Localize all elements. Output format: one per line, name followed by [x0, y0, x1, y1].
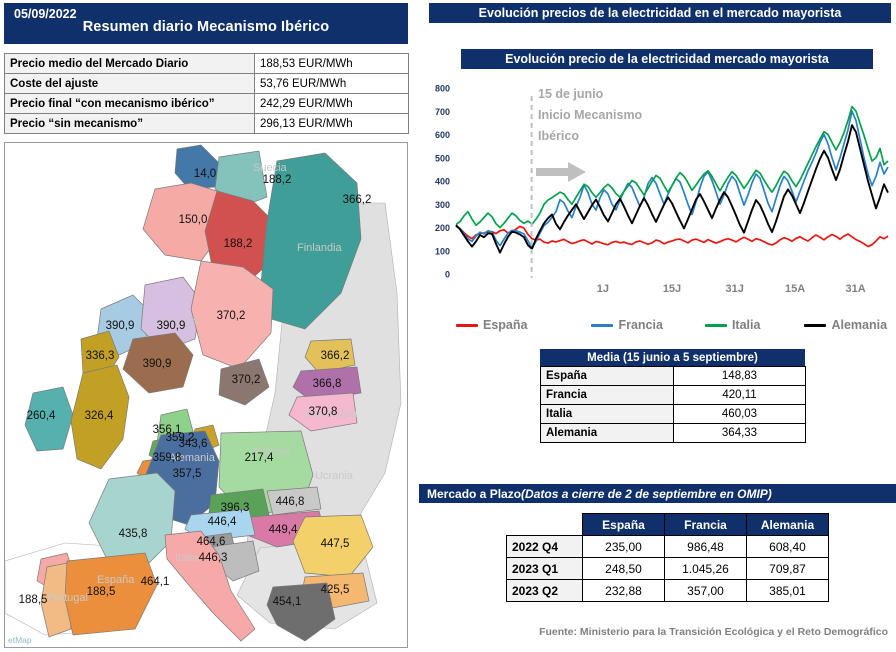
table-row: Francia 420,11: [541, 386, 806, 405]
y-axis-tick: 500: [435, 153, 450, 163]
map-value: 336,3: [86, 350, 115, 362]
summary-header: 05/09/2022 Resumen diario Mecanismo Ibér…: [4, 3, 408, 44]
map-value: 425,5: [321, 584, 350, 596]
table-row: 2023 Q1 248,50 1.045,26 709,87: [507, 558, 829, 580]
legend-label: España: [483, 318, 527, 332]
y-axis-tick: 700: [435, 107, 450, 117]
plazo-cell: 385,01: [747, 580, 829, 602]
media-table-header: Media (15 junio a 5 septiembre): [540, 349, 805, 366]
plazo-period: 2023 Q2: [507, 580, 583, 602]
map-svg: Suecia Finlandia Noruega Bielorrusia Pol…: [5, 143, 407, 647]
summary-label: Precio medio del Mercado Diario: [5, 54, 255, 74]
plazo-cell: 608,40: [747, 536, 829, 558]
y-axis-tick: 800: [435, 84, 450, 94]
table-row: Alemania 364,33: [541, 424, 806, 443]
y-axis-labels: 0100200300400500600700800: [435, 84, 450, 280]
legend-label: Alemania: [831, 318, 887, 332]
map-value: 366,8: [313, 378, 342, 390]
legend-swatch-francia: [591, 324, 613, 327]
table-row: Precio “sin mecanismo” 296,13 EUR/MWh: [5, 114, 409, 134]
summary-value: 53,76 EUR/MWh: [255, 74, 409, 94]
map-value: 359,2: [166, 432, 195, 444]
map-value: 435,8: [119, 528, 148, 540]
map-country-name: España: [97, 574, 135, 586]
media-country: Francia: [541, 386, 674, 405]
map-value: 464,6: [197, 536, 226, 548]
table-row: Coste del ajuste 53,76 EUR/MWh: [5, 74, 409, 94]
map-value: 446,4: [208, 516, 237, 528]
map-value: 446,8: [276, 496, 305, 508]
table-row: 2023 Q2 232,88 357,00 385,01: [507, 580, 829, 602]
chart-series-group: [456, 107, 888, 253]
map-value: 447,5: [321, 538, 350, 550]
map-country-name: Portugal: [47, 592, 88, 604]
map-value: 217,4: [245, 452, 274, 464]
table-row: Precio final “con mecanismo ibérico” 242…: [5, 94, 409, 114]
map-value: 357,5: [173, 468, 202, 480]
plazo-cell: 357,00: [665, 580, 747, 602]
price-evolution-chart: 0100200300400500600700800 1J15J31J15A31A…: [418, 78, 896, 310]
legend-swatch-italia: [705, 324, 727, 327]
map-value: 370,8: [309, 406, 338, 418]
map-country-name: Finlandia: [297, 242, 343, 254]
media-table: España 148,83 Francia 420,11 Italia 460,…: [540, 366, 806, 443]
map-country-name: Suecia: [253, 162, 288, 174]
map-value: 150,0: [179, 214, 208, 226]
plazo-cell: 248,50: [583, 558, 665, 580]
media-value: 460,03: [674, 405, 806, 424]
table-header-row: España Francia Alemania: [507, 514, 829, 536]
map-attribution: etMap: [8, 635, 32, 645]
y-axis-tick: 100: [435, 246, 450, 256]
summary-label: Precio “sin mecanismo”: [5, 114, 255, 134]
table-row: Precio medio del Mercado Diario 188,53 E…: [5, 54, 409, 74]
map-value: 390,9: [157, 320, 186, 332]
summary-label: Precio final “con mecanismo ibérico”: [5, 94, 255, 114]
map-value: 390,9: [106, 320, 135, 332]
page-title: Resumen diario Mecanismo Ibérico: [4, 19, 408, 35]
x-axis-tick: 31J: [725, 283, 743, 295]
map-value: 188,2: [224, 238, 253, 250]
table-row: España 148,83: [541, 367, 806, 386]
x-axis-tick: 15A: [785, 283, 805, 295]
map-value: 326,4: [85, 410, 114, 422]
legend-item-francia: Francia: [591, 318, 662, 332]
annotation-line-1: 15 de junio: [538, 87, 604, 101]
map-value: 188,5: [87, 586, 116, 598]
x-axis-tick: 31A: [846, 283, 866, 295]
map-value: 446,3: [199, 552, 228, 564]
legend-swatch-espana: [456, 324, 478, 327]
y-axis-tick: 200: [435, 223, 450, 233]
y-axis-tick: 0: [445, 270, 450, 280]
legend-item-italia: Italia: [705, 318, 761, 332]
table-corner-cell: [507, 514, 583, 536]
chart-banner: Evolución precio de la electricidad merc…: [461, 49, 873, 69]
map-value: 454,1: [273, 596, 302, 608]
map-value: 366,2: [343, 194, 372, 206]
map-value: 188,5: [19, 594, 48, 606]
annotation-line-2: Inicio Mecanismo: [538, 108, 643, 122]
map-value: 370,2: [232, 374, 261, 386]
plazo-period: 2023 Q1: [507, 558, 583, 580]
map-country-name: Ucrania: [315, 470, 354, 482]
x-axis-tick: 1J: [597, 283, 609, 295]
y-axis-tick: 400: [435, 177, 450, 187]
map-value: 449,4: [269, 524, 298, 536]
x-axis-labels: 1J15J31J15A31A: [597, 283, 866, 295]
media-country: Alemania: [541, 424, 674, 443]
legend-label: Francia: [618, 318, 662, 332]
plazo-col-alemania: Alemania: [747, 514, 829, 536]
plazo-table: España Francia Alemania 2022 Q4 235,00 9…: [506, 513, 829, 602]
summary-value: 296,13 EUR/MWh: [255, 114, 409, 134]
arrow-icon: [536, 162, 586, 182]
map-value: 260,4: [27, 410, 56, 422]
plazo-col-francia: Francia: [665, 514, 747, 536]
series-line-españa: [456, 226, 888, 246]
chart-svg: 0100200300400500600700800 1J15J31J15A31A…: [418, 78, 896, 310]
map-country-name: Italia: [175, 552, 199, 564]
chart-legend: España Francia Italia Alemania: [418, 312, 896, 338]
series-line-alemania: [456, 125, 888, 252]
map-value: 14,0: [194, 168, 216, 180]
media-value: 364,33: [674, 424, 806, 443]
plazo-cell: 232,88: [583, 580, 665, 602]
plazo-cell: 986,48: [665, 536, 747, 558]
table-row: 2022 Q4 235,00 986,48 608,40: [507, 536, 829, 558]
media-country: Italia: [541, 405, 674, 424]
plazo-cell: 709,87: [747, 558, 829, 580]
series-line-italia: [456, 107, 888, 228]
map-value: 359,8: [153, 452, 182, 464]
annotation-line-3: Ibérico: [538, 129, 579, 143]
map-value: 464,1: [141, 576, 170, 588]
source-note: Fuente: Ministerio para la Transición Ec…: [418, 626, 896, 638]
map-value: 188,2: [263, 174, 292, 186]
plazo-title-bold: Mercado a Plazo: [427, 487, 521, 501]
x-axis-tick: 15J: [663, 283, 681, 295]
main-banner: Evolución precios de la electricidad en …: [429, 3, 891, 23]
legend-item-alemania: Alemania: [804, 318, 887, 332]
left-panel: 05/09/2022 Resumen diario Mecanismo Ibér…: [0, 0, 416, 652]
map-value: 390,9: [143, 358, 172, 370]
media-value: 148,83: [674, 367, 806, 386]
table-row: Italia 460,03: [541, 405, 806, 424]
legend-item-espana: España: [456, 318, 527, 332]
media-country: España: [541, 367, 674, 386]
plazo-cell: 1.045,26: [665, 558, 747, 580]
plazo-period: 2022 Q4: [507, 536, 583, 558]
map-value: 396,3: [221, 502, 250, 514]
plazo-cell: 235,00: [583, 536, 665, 558]
summary-value: 188,53 EUR/MWh: [255, 54, 409, 74]
plazo-table-header: Mercado a Plazo (Datos a cierre de 2 de …: [419, 484, 896, 503]
legend-swatch-alemania: [804, 324, 826, 327]
plazo-title-italic: (Datos a cierre de 2 de septiembre en OM…: [521, 487, 772, 501]
europe-price-map: Suecia Finlandia Noruega Bielorrusia Pol…: [4, 142, 408, 648]
media-value: 420,11: [674, 386, 806, 405]
legend-label: Italia: [732, 318, 761, 332]
right-panel: Evolución precios de la electricidad en …: [418, 0, 896, 652]
summary-table: Precio medio del Mercado Diario 188,53 E…: [4, 53, 409, 134]
y-axis-tick: 300: [435, 200, 450, 210]
plazo-col-espana: España: [583, 514, 665, 536]
summary-label: Coste del ajuste: [5, 74, 255, 94]
map-value: 366,2: [321, 350, 350, 362]
summary-value: 242,29 EUR/MWh: [255, 94, 409, 114]
y-axis-tick: 600: [435, 130, 450, 140]
map-value: 370,2: [217, 310, 246, 322]
